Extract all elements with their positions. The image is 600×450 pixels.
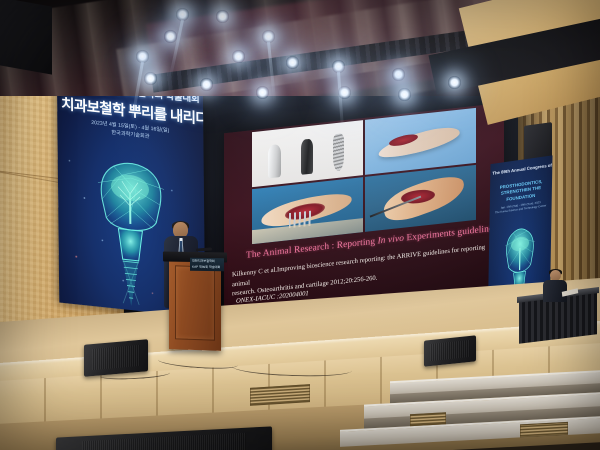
lectern-sign-line-2: KAP 제89회 학술대회 [190,264,224,271]
slide-image-bottom-right [365,165,476,232]
ceiling-spotlight [200,78,213,91]
speaker-grille [430,340,470,361]
speaker-grille [92,345,141,370]
implant-specimen-white [268,145,281,178]
slide-image-bottom-left [252,177,363,244]
wireframe-dental-implant-tree-icon [92,152,172,310]
ceiling-spotlight [164,30,177,43]
slide-image-top-right [365,108,476,175]
ceiling-spotlight [256,86,269,99]
implant-specimen-threaded [333,133,344,171]
lectern-nameplate-screen: 대한치과보철학회 KAP 제89회 학술대회 [190,258,224,272]
slide-image-top-left [252,120,363,187]
ceiling-spotlight [392,68,405,81]
step-vent-grille [520,422,568,438]
ceiling-spotlight [398,88,411,101]
side-banner-congress-title: The 89th Annual Congress of KAP [492,163,550,176]
conference-stage-photo: 제89회 대한치과보철학회 학술대회 치과보철학 뿌리를 내리다 2023년 4… [0,0,600,450]
floor-vent-grille [250,384,310,406]
ceiling-spotlight [232,50,245,63]
stage-access-steps [370,370,600,450]
lectern [169,257,221,351]
ceiling-spotlight [448,76,461,89]
step-vent-grille [410,412,446,426]
hanging-speaker [0,0,52,75]
implant-specimen-black [301,139,313,175]
speaker-grille [82,432,246,450]
stage-floor-monitor [424,335,476,366]
slide-title-suffix: Experiments guidelines [404,224,497,244]
ceiling-spotlight [216,10,229,23]
lectern-panel [175,265,215,340]
slide-title-italic: In vivo [378,234,404,247]
slide-image-grid [252,108,476,244]
ceiling-spotlight [286,56,299,69]
ceiling-spotlight [144,72,157,85]
